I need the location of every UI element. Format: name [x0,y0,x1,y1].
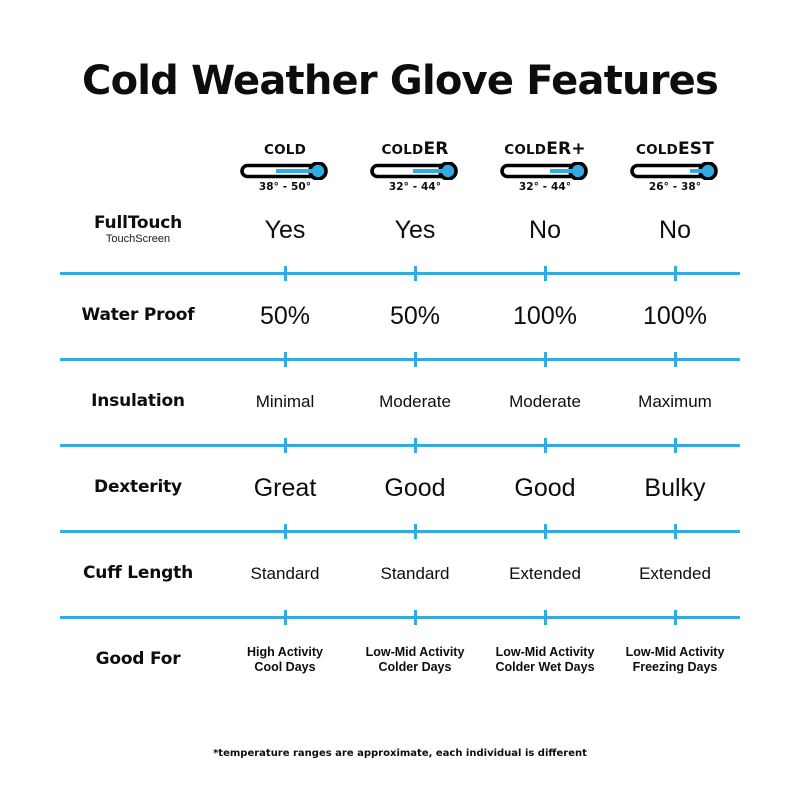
cell-value: No [480,215,610,245]
table-cell: Extended [480,564,610,584]
cell-value: Maximum [610,392,740,412]
row-label: Insulation [60,393,216,411]
cell-value-line2: Colder Wet Days [480,660,610,675]
cell-value: Minimal [220,392,350,412]
cell-value: Yes [220,215,350,245]
cell-value-line1: Low-Mid Activity [496,645,595,659]
cell-value-line1: Extended [639,564,711,583]
cell-value-line1: 100% [513,302,577,330]
table-header-row: COLD 38° - 50° COLDER 32° - 44° COLDER [60,132,740,194]
thermometer-icon [370,162,460,180]
column-title-suffix: EST [678,139,714,159]
thermometer-icon [500,162,590,180]
cell-value: Extended [480,564,610,584]
row-label: Cuff Length [60,565,216,583]
cell-value: No [610,215,740,245]
cell-value: 50% [220,301,350,331]
divider-tick [414,438,417,453]
temperature-range: 38° - 50° [220,182,350,193]
cell-value: Low-Mid ActivityColder Days [350,645,480,675]
temperature-range: 32° - 44° [350,182,480,193]
cell-value-line1: Minimal [256,392,315,411]
row-label: FullTouch [60,215,216,233]
table-cell: 50% [350,301,480,331]
column-title-base: COLD [264,142,306,158]
divider-line [60,444,740,447]
row-label: Dexterity [60,479,216,497]
column-header-cold: COLD 38° - 50° [220,141,350,195]
table-cell: Maximum [610,392,740,412]
divider-tick [674,524,677,539]
column-title-suffix: ER [423,139,448,159]
table-cell: Great [220,473,350,503]
column-title: COLD [220,141,350,158]
cell-value: Great [220,473,350,503]
cell-value-line1: High Activity [247,645,323,659]
table-cell: Minimal [220,392,350,412]
row-divider [60,610,740,624]
cell-value: 100% [610,301,740,331]
divider-tick [544,352,547,367]
table-cell: Bulky [610,473,740,503]
cell-value-line1: Yes [265,216,306,244]
table-cell: Good [350,473,480,503]
row-label-cell: FullTouchTouchScreen [60,215,220,246]
column-title: COLDER+ [480,141,610,158]
cell-value-line1: Bulky [644,474,705,502]
column-header-colder-plus: COLDER+ 32° - 44° [480,141,610,195]
divider-tick [284,438,287,453]
table-cell: 100% [610,301,740,331]
cell-value: 50% [350,301,480,331]
table-cell: Standard [220,564,350,584]
divider-tick [674,352,677,367]
column-header-coldest: COLDEST 26° - 38° [610,141,740,195]
cell-value-line1: Great [254,474,317,502]
column-header-colder: COLDER 32° - 44° [350,141,480,195]
row-label-cell: Good For [60,651,220,669]
cell-value: Standard [220,564,350,584]
cell-value-line1: Yes [395,216,436,244]
column-title: COLDEST [610,141,740,158]
table-cell: Yes [350,215,480,245]
divider-tick [284,266,287,281]
cell-value-line1: Extended [509,564,581,583]
table-cell: Moderate [350,392,480,412]
divider-tick [544,266,547,281]
cell-value: High ActivityCool Days [220,645,350,675]
row-label-cell: Insulation [60,393,220,411]
column-title-base: COLD [636,142,678,158]
cell-value-line1: Good [384,474,445,502]
table-cell: High ActivityCool Days [220,645,350,675]
cell-value-line2: Freezing Days [610,660,740,675]
table-row: DexterityGreatGoodGoodBulky [60,452,740,524]
table-cell: No [610,215,740,245]
cell-value: Moderate [350,392,480,412]
glove-features-infographic: Cold Weather Glove Features COLD 38° - 5… [0,0,800,800]
cell-value: Extended [610,564,740,584]
divider-line [60,272,740,275]
row-label: Good For [60,651,216,669]
divider-line [60,616,740,619]
table-cell: Standard [350,564,480,584]
cell-value: Yes [350,215,480,245]
divider-tick [674,266,677,281]
thermometer-icon [630,162,720,180]
table-cell: No [480,215,610,245]
table-row: InsulationMinimalModerateModerateMaximum [60,366,740,438]
cell-value-line1: Maximum [638,392,712,411]
table-row: Cuff LengthStandardStandardExtendedExten… [60,538,740,610]
cell-value-line1: No [529,216,561,244]
cell-value: Good [480,473,610,503]
divider-line [60,530,740,533]
cell-value-line2: Colder Days [350,660,480,675]
table-cell: Extended [610,564,740,584]
table-row: Good ForHigh ActivityCool DaysLow-Mid Ac… [60,624,740,696]
divider-tick [284,352,287,367]
table-body: FullTouchTouchScreenYesYesNoNoWater Proo… [60,194,740,696]
cell-value: 100% [480,301,610,331]
cell-value-line1: Standard [251,564,320,583]
table-row: Water Proof50%50%100%100% [60,280,740,352]
column-title: COLDER [350,141,480,158]
temperature-range: 26° - 38° [610,182,740,193]
cell-value-line1: 100% [643,302,707,330]
divider-line [60,358,740,361]
cell-value: Low-Mid ActivityFreezing Days [610,645,740,675]
table-cell: 100% [480,301,610,331]
divider-tick [544,438,547,453]
row-label-cell: Water Proof [60,307,220,325]
column-title-base: COLD [504,142,546,158]
table-cell: Low-Mid ActivityColder Days [350,645,480,675]
features-table: COLD 38° - 50° COLDER 32° - 44° COLDER [0,132,800,696]
table-row: FullTouchTouchScreenYesYesNoNo [60,194,740,266]
cell-value: Standard [350,564,480,584]
table-cell: Good [480,473,610,503]
cell-value: Moderate [480,392,610,412]
row-divider [60,266,740,280]
divider-tick [284,610,287,625]
divider-tick [414,610,417,625]
temperature-range: 32° - 44° [480,182,610,193]
divider-tick [674,438,677,453]
divider-tick [414,524,417,539]
row-divider [60,524,740,538]
divider-tick [414,266,417,281]
row-label: Water Proof [60,307,216,325]
cell-value-line1: Good [514,474,575,502]
footnote: *temperature ranges are approximate, eac… [0,748,800,759]
table-cell: Low-Mid ActivityFreezing Days [610,645,740,675]
cell-value-line1: Moderate [509,392,581,411]
cell-value-line1: Standard [381,564,450,583]
table-cell: Moderate [480,392,610,412]
cell-value: Low-Mid ActivityColder Wet Days [480,645,610,675]
cell-value: Good [350,473,480,503]
divider-tick [284,524,287,539]
row-label-cell: Cuff Length [60,565,220,583]
divider-tick [414,352,417,367]
divider-tick [544,610,547,625]
cell-value-line1: 50% [390,302,440,330]
page-title: Cold Weather Glove Features [0,0,800,104]
cell-value-line2: Cool Days [220,660,350,675]
table-cell: Low-Mid ActivityColder Wet Days [480,645,610,675]
cell-value-line1: Low-Mid Activity [626,645,725,659]
cell-value-line1: 50% [260,302,310,330]
row-divider [60,438,740,452]
divider-tick [544,524,547,539]
row-label-cell: Dexterity [60,479,220,497]
table-cell: Yes [220,215,350,245]
cell-value: Bulky [610,473,740,503]
column-title-suffix: ER+ [546,139,586,159]
row-divider [60,352,740,366]
column-title-base: COLD [381,142,423,158]
thermometer-icon [240,162,330,180]
table-cell: 50% [220,301,350,331]
cell-value-line1: Moderate [379,392,451,411]
divider-tick [674,610,677,625]
cell-value-line1: Low-Mid Activity [366,645,465,659]
cell-value-line1: No [659,216,691,244]
row-sublabel: TouchScreen [60,233,216,245]
